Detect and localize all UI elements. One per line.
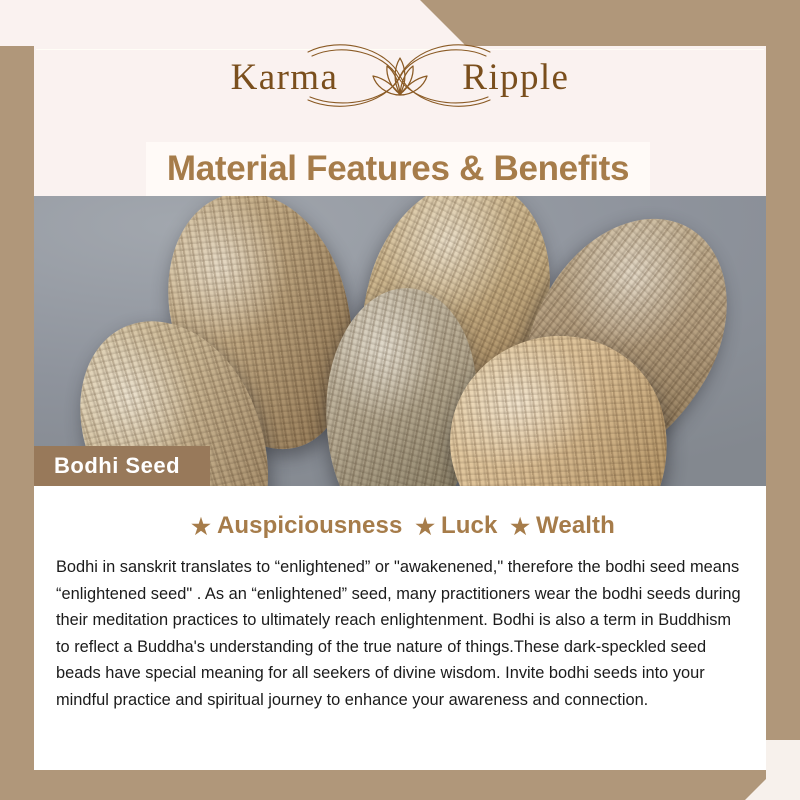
star-icon-2: ★ xyxy=(415,516,435,538)
star-icon-1: ★ xyxy=(191,516,211,538)
material-name-label: Bodhi Seed xyxy=(54,453,180,479)
star-icon-3: ★ xyxy=(510,516,530,538)
card-hairline xyxy=(36,49,764,50)
frame-corner-sliver xyxy=(766,740,800,800)
poster-root: Karma Ripple Material Features & Benefit… xyxy=(0,0,800,800)
material-name-badge: Bodhi Seed xyxy=(34,446,210,486)
description-text: Bodhi in sanskrit translates to “enlight… xyxy=(56,554,744,713)
benefit-item-2: Luck xyxy=(441,512,497,539)
benefit-item-1: Auspiciousness xyxy=(217,512,402,539)
benefits-list: ★Auspiciousness ★Luck ★Wealth xyxy=(34,512,766,540)
description-panel: ★Auspiciousness ★Luck ★Wealth Bodhi in s… xyxy=(34,486,766,770)
product-photo xyxy=(34,196,766,486)
benefit-item-3: Wealth xyxy=(536,512,615,539)
headline-banner: Material Features & Benefits xyxy=(146,142,650,196)
page-title: Material Features & Benefits xyxy=(167,149,629,189)
